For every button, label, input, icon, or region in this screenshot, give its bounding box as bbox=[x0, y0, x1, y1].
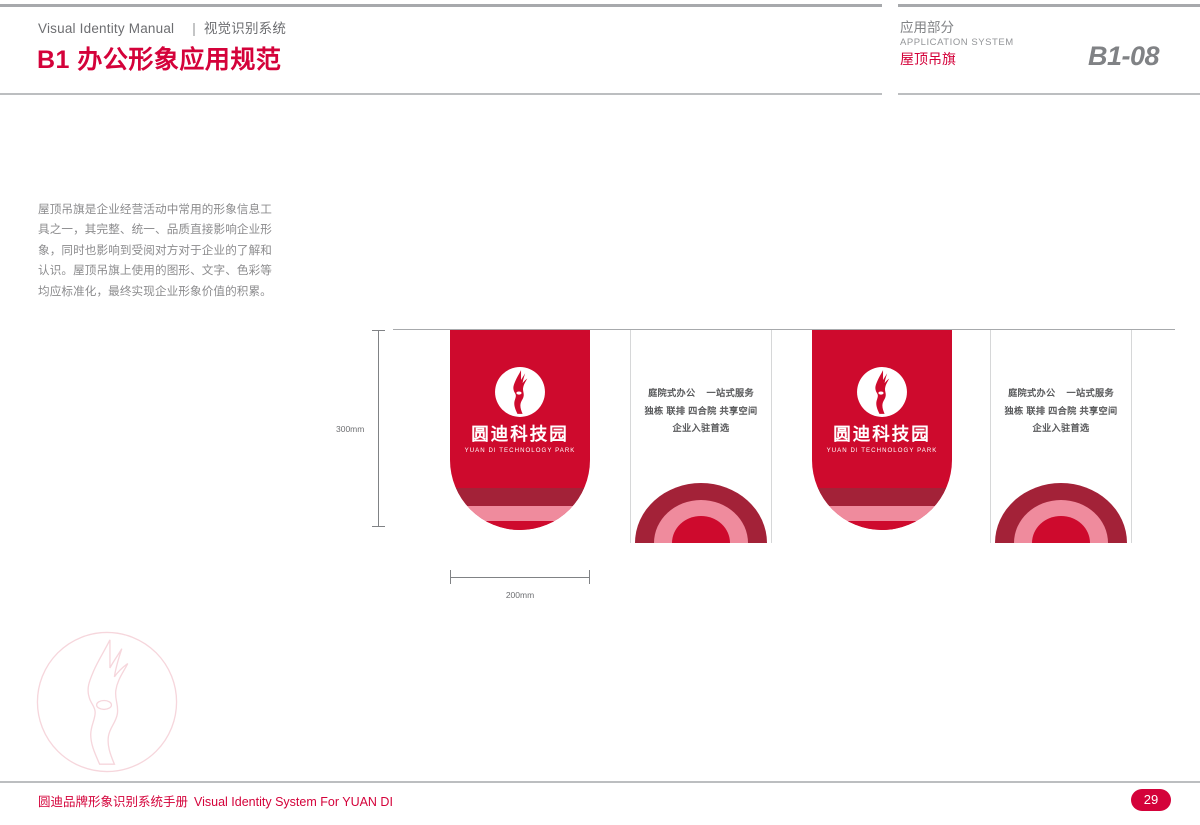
footer-caption-cn: 圆迪品牌形象识别系统手册 bbox=[38, 795, 188, 809]
logo-name-en-2: YUAN DI TECHNOLOGY PARK bbox=[812, 446, 952, 456]
height-dimension-cap-bottom bbox=[372, 526, 385, 527]
rainbow-arc-group-1 bbox=[631, 481, 771, 543]
logo-name-cn-1: 圆迪科技园 bbox=[450, 424, 590, 444]
color-band-red-2 bbox=[812, 521, 952, 530]
banner-white-slogan-1: 庭院式办公一站式服务 独栋 联排 四合院 共享空间 企业入驻首选 bbox=[630, 330, 772, 543]
banner-red-logo-2: 圆迪科技园 YUAN DI TECHNOLOGY PARK bbox=[812, 330, 952, 530]
slogan-line-2: 独栋 联排 四合院 共享空间 bbox=[631, 403, 771, 421]
height-dimension-label: 300mm bbox=[336, 424, 364, 434]
footer-caption-en: Visual Identity System For YUAN DI bbox=[188, 795, 393, 809]
slogan-text-service-2: 一站式服务 bbox=[1067, 388, 1114, 398]
banner-white-slogan-2: 庭院式办公一站式服务 独栋 联排 四合院 共享空间 企业入驻首选 bbox=[990, 330, 1132, 543]
brand-mark-icon bbox=[494, 366, 546, 418]
rainbow-arc-group-2 bbox=[991, 481, 1131, 543]
logo-lockup-1: 圆迪科技园 YUAN DI TECHNOLOGY PARK bbox=[450, 366, 590, 456]
color-band-pink-1 bbox=[450, 506, 590, 521]
width-dimension-cap-right bbox=[589, 570, 590, 584]
slogan-line-3: 企业入驻首选 bbox=[631, 420, 771, 438]
slogan-text-courtyard-1: 庭院式办公 bbox=[648, 388, 695, 398]
color-band-pink-2 bbox=[812, 506, 952, 521]
slogan-line-3: 企业入驻首选 bbox=[991, 420, 1131, 438]
page-number-badge: 29 bbox=[1131, 789, 1171, 811]
width-dimension-cap-left bbox=[450, 570, 451, 584]
footer-caption: 圆迪品牌形象识别系统手册Visual Identity System For Y… bbox=[38, 791, 393, 810]
slogan-text-courtyard-2: 庭院式办公 bbox=[1008, 388, 1055, 398]
logo-lockup-2: 圆迪科技园 YUAN DI TECHNOLOGY PARK bbox=[812, 366, 952, 456]
slogan-block-2: 庭院式办公一站式服务 独栋 联排 四合院 共享空间 企业入驻首选 bbox=[991, 385, 1131, 438]
slogan-line-1a: 庭院式办公一站式服务 bbox=[631, 385, 771, 403]
slogan-block-1: 庭院式办公一站式服务 独栋 联排 四合院 共享空间 企业入驻首选 bbox=[631, 385, 771, 438]
footer-rule bbox=[0, 781, 1200, 783]
height-dimension-cap-top bbox=[372, 330, 385, 331]
height-dimension-line bbox=[378, 330, 379, 526]
banner-red-logo-1: 圆迪科技园 YUAN DI TECHNOLOGY PARK bbox=[450, 330, 590, 530]
color-band-dark-2 bbox=[812, 488, 952, 506]
brand-mark-icon bbox=[856, 366, 908, 418]
slogan-line-2: 独栋 联排 四合院 共享空间 bbox=[991, 403, 1131, 421]
logo-name-en-1: YUAN DI TECHNOLOGY PARK bbox=[450, 446, 590, 456]
slogan-text-service-1: 一站式服务 bbox=[707, 388, 754, 398]
logo-name-cn-2: 圆迪科技园 bbox=[812, 424, 952, 444]
brand-mark-watermark-icon bbox=[33, 628, 181, 776]
width-dimension-line bbox=[450, 577, 590, 578]
color-band-dark-1 bbox=[450, 488, 590, 506]
width-dimension-label: 200mm bbox=[450, 590, 590, 600]
slogan-line-1b: 庭院式办公一站式服务 bbox=[991, 385, 1131, 403]
color-band-red-1 bbox=[450, 521, 590, 530]
